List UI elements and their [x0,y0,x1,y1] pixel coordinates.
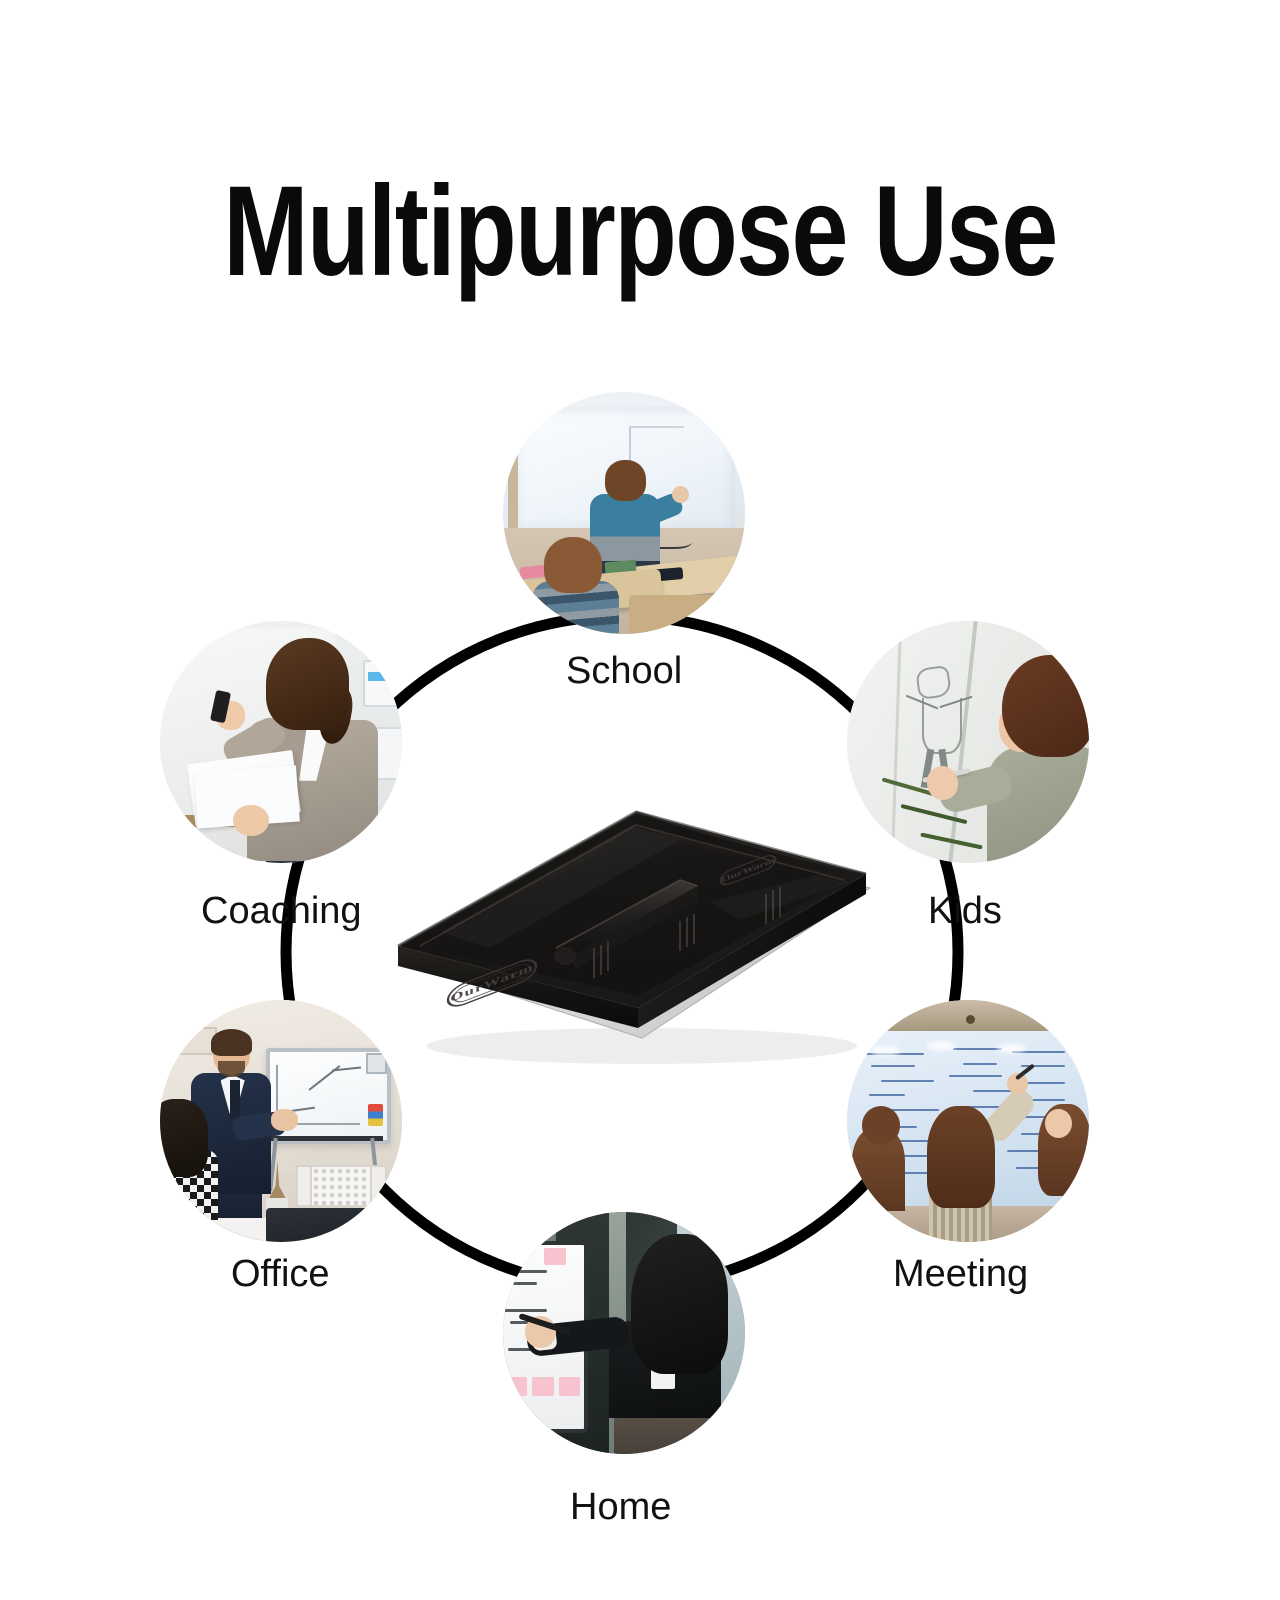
product-whiteboard-eraser: OurWarm OurWarm [380,770,890,1080]
label-coaching: Coaching [201,892,362,930]
label-kids: Kids [928,892,1002,930]
photo-coaching [160,621,402,863]
photo-home [503,1212,745,1454]
label-school: School [566,652,682,690]
label-meeting: Meeting [893,1255,1028,1293]
photo-school [503,392,745,634]
label-home: Home [570,1488,671,1526]
photo-office [160,1000,402,1242]
label-office: Office [231,1255,330,1293]
infographic-page: Multipurpose Use [0,0,1280,1600]
